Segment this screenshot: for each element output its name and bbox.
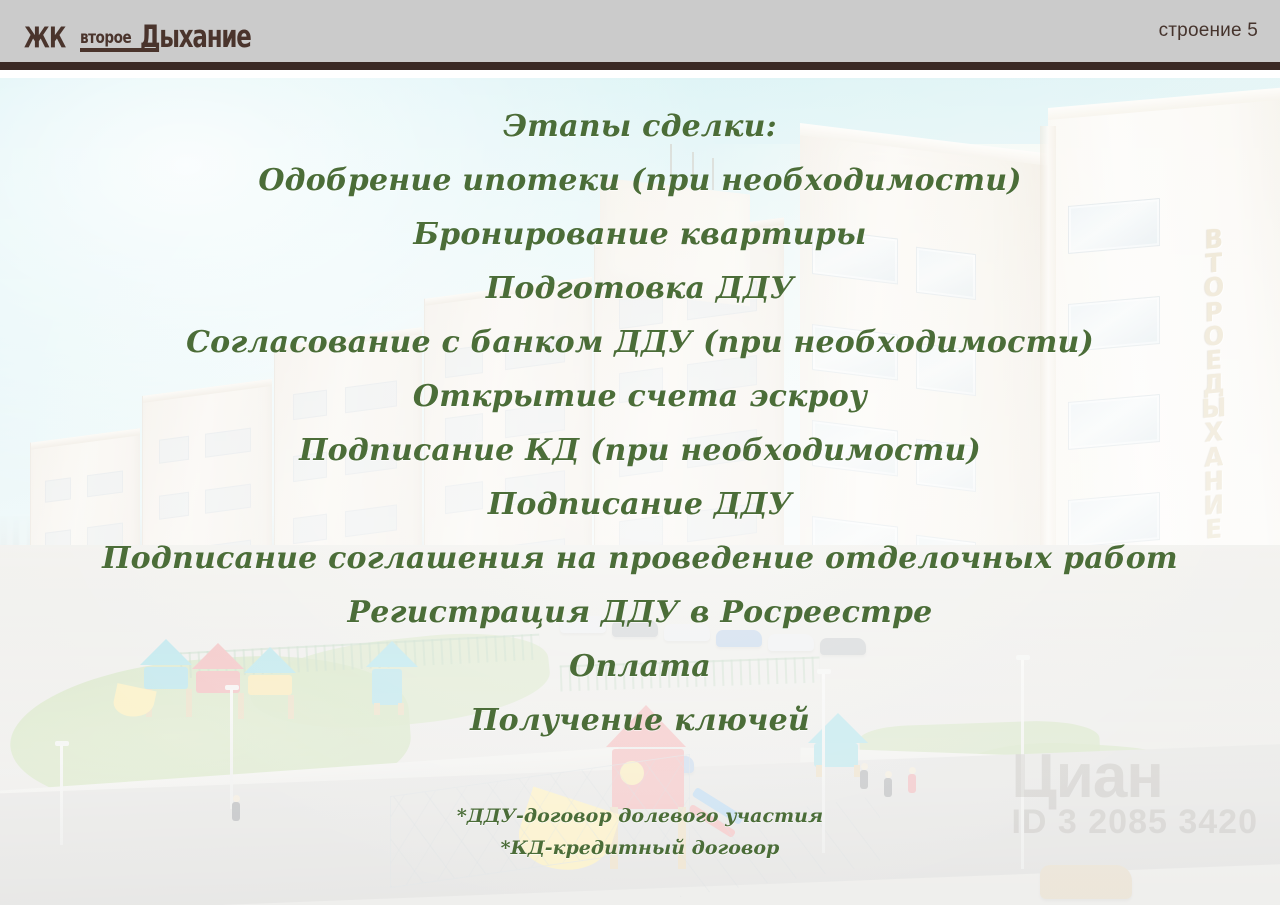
footnote-ddu: *ДДУ-договор долевого участия [457,800,823,832]
background-photo: В Т О Р О Е Д Ы Х А Н И Е [0,78,1280,905]
step-item-1: Одобрение ипотеки (при необходимости) [258,154,1021,208]
footnotes-group: *ДДУ-договор долевого участия *КД-кредит… [457,800,823,864]
building-label: строение 5 [1159,20,1258,42]
footnote-kd: *КД-кредитный договор [501,832,780,864]
step-item-3: Подготовка ДДУ [486,262,794,316]
logo-prefix: ЖК [24,24,65,53]
logo-secondary-word-wrap: второе [80,30,144,53]
step-item-9: Регистрация ДДУ в Росреестре [348,586,933,640]
step-item-7: Подписание ДДУ [488,478,792,532]
logo-main-word: Дыхание [140,22,251,53]
step-item-2: Бронирование квартиры [413,208,866,262]
slide-page: ЖК второе Дыхание строение 5 [0,0,1280,905]
step-item-6: Подписание КД (при необходимости) [299,424,981,478]
steps-text-overlay: Этапы сделки: Одобрение ипотеки (при нео… [0,78,1280,905]
steps-title: Этапы сделки: [503,100,777,154]
step-item-8: Подписание соглашения на проведение отде… [102,532,1178,586]
step-item-11: Получение ключей [470,694,810,748]
step-item-10: Оплата [569,640,711,694]
step-item-5: Открытие счета эскроу [413,370,867,424]
page-header: ЖК второе Дыхание строение 5 [0,0,1280,70]
brand-logo: ЖК второе Дыхание [24,9,290,53]
step-item-4: Согласование с банком ДДУ (при необходим… [186,316,1094,370]
logo-secondary-word: второе [80,30,131,47]
